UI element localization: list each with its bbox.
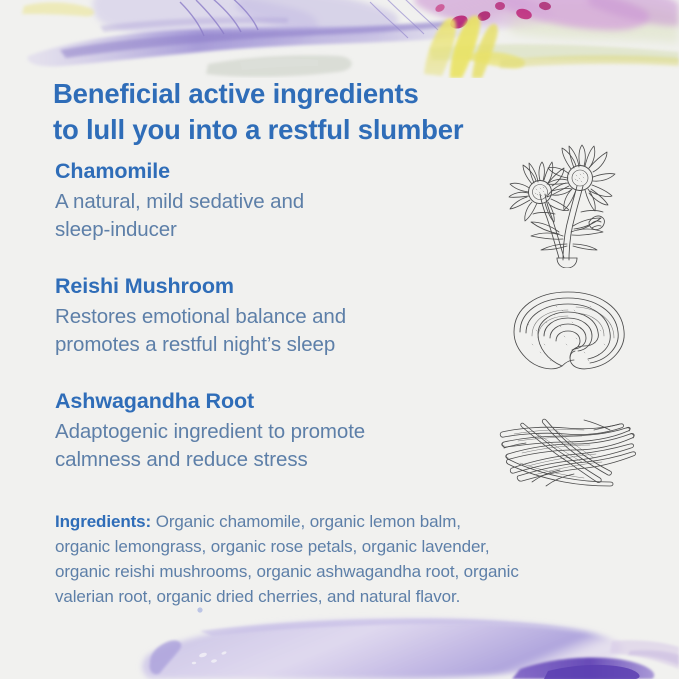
ingredient-infographic-page: Beneficial active ingredients to lull yo… bbox=[0, 0, 679, 679]
ingredients-line-2: organic lemongrass, organic rose petals,… bbox=[55, 535, 635, 560]
ingredient-section-chamomile: Chamomile A natural, mild sedative and s… bbox=[55, 159, 525, 243]
page-title-line-2: to lull you into a restful slumber bbox=[53, 112, 613, 147]
ingredients-paragraph: Ingredients: Organic chamomile, organic … bbox=[55, 510, 635, 610]
description-line-2: sleep-inducer bbox=[55, 216, 525, 243]
ingredients-line-1: Ingredients: Organic chamomile, organic … bbox=[55, 510, 635, 535]
description-line-1: A natural, mild sedative and bbox=[55, 188, 525, 215]
description-line-1: Adaptogenic ingredient to promote bbox=[55, 418, 525, 445]
ingredient-description-ashwagandha-root: Adaptogenic ingredient to promote calmne… bbox=[55, 418, 525, 473]
page-title-line-1: Beneficial active ingredients bbox=[53, 76, 613, 111]
description-line-1: Restores emotional balance and bbox=[55, 303, 525, 330]
ingredient-section-reishi-mushroom: Reishi Mushroom Restores emotional balan… bbox=[55, 274, 525, 358]
watercolor-banner-top bbox=[0, 0, 679, 78]
watercolor-banner-bottom bbox=[0, 607, 679, 679]
description-line-2: promotes a restful night’s sleep bbox=[55, 331, 525, 358]
ingredients-line-3: organic reishi mushrooms, organic ashwag… bbox=[55, 560, 635, 585]
ingredient-title-ashwagandha-root: Ashwagandha Root bbox=[55, 389, 525, 414]
ingredient-description-chamomile: A natural, mild sedative and sleep-induc… bbox=[55, 188, 525, 243]
page-title: Beneficial active ingredients to lull yo… bbox=[53, 76, 613, 147]
ingredient-title-reishi-mushroom: Reishi Mushroom bbox=[55, 274, 525, 299]
ingredient-title-chamomile: Chamomile bbox=[55, 159, 525, 184]
ingredient-section-ashwagandha-root: Ashwagandha Root Adaptogenic ingredient … bbox=[55, 389, 525, 473]
description-line-2: calmness and reduce stress bbox=[55, 446, 525, 473]
ingredients-label: Ingredients: bbox=[55, 512, 151, 531]
ingredient-description-reishi-mushroom: Restores emotional balance and promotes … bbox=[55, 303, 525, 358]
ingredients-text-1: Organic chamomile, organic lemon balm, bbox=[151, 512, 461, 531]
ingredients-line-4: valerian root, organic dried cherries, a… bbox=[55, 585, 635, 610]
